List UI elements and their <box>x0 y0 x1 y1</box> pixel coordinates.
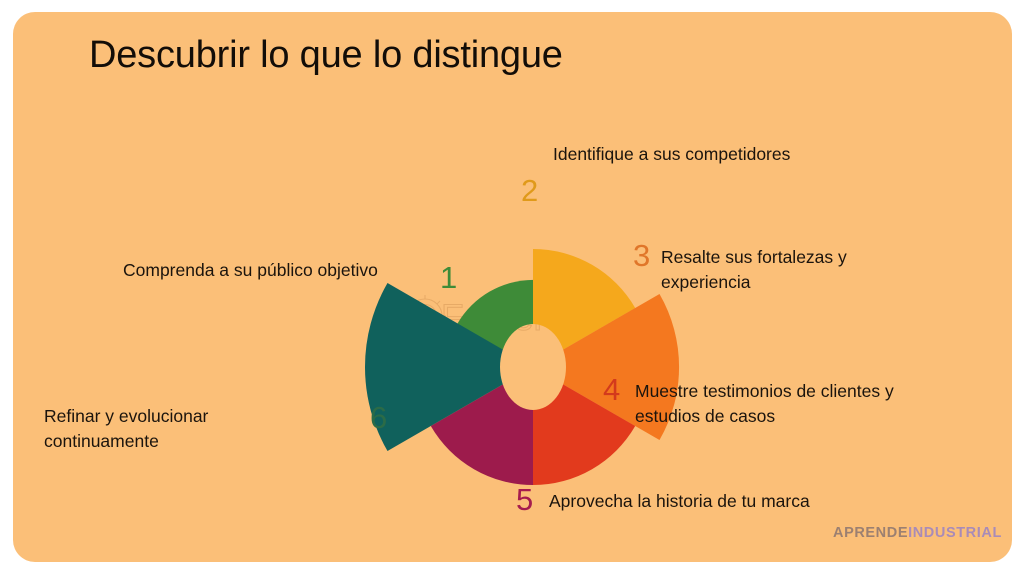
page-title: Descubrir lo que lo distingue <box>89 34 563 77</box>
brand-logo: APRENDEINDUSTRIAL <box>833 525 1002 541</box>
segment-label-4-line1: Muestre testimonios de clientes y <box>635 379 935 404</box>
brand-part-aprende: APRENDE <box>833 525 908 541</box>
segment-number-2: 2 <box>521 175 538 206</box>
segment-number-4: 4 <box>603 374 620 405</box>
segment-label-6-line2: continuamente <box>44 429 304 454</box>
brand-part-industrial: INDUSTRIAL <box>908 525 1002 541</box>
segment-label-1: Comprenda a su público objetivo <box>123 258 453 283</box>
segment-number-6: 6 <box>370 402 387 433</box>
segment-label-4-line2: estudios de casos <box>635 404 935 429</box>
segment-label-5: Aprovecha la historia de tu marca <box>549 489 899 514</box>
segment-label-3: Resalte sus fortalezas y experiencia <box>661 245 911 295</box>
segment-label-3-line1: Resalte sus fortalezas y <box>661 245 911 270</box>
segment-number-5: 5 <box>516 484 533 515</box>
segment-label-3-line2: experiencia <box>661 270 911 295</box>
segment-number-3: 3 <box>633 240 650 271</box>
segment-label-2: Identifique a sus competidores <box>553 142 883 167</box>
segment-label-6: Refinar y evolucionar continuamente <box>44 404 304 454</box>
slide-card: Descubrir lo que lo distingue FasterCapi… <box>13 12 1012 562</box>
segment-label-6-line1: Refinar y evolucionar <box>44 404 304 429</box>
segment-label-4: Muestre testimonios de clientes y estudi… <box>635 379 935 429</box>
